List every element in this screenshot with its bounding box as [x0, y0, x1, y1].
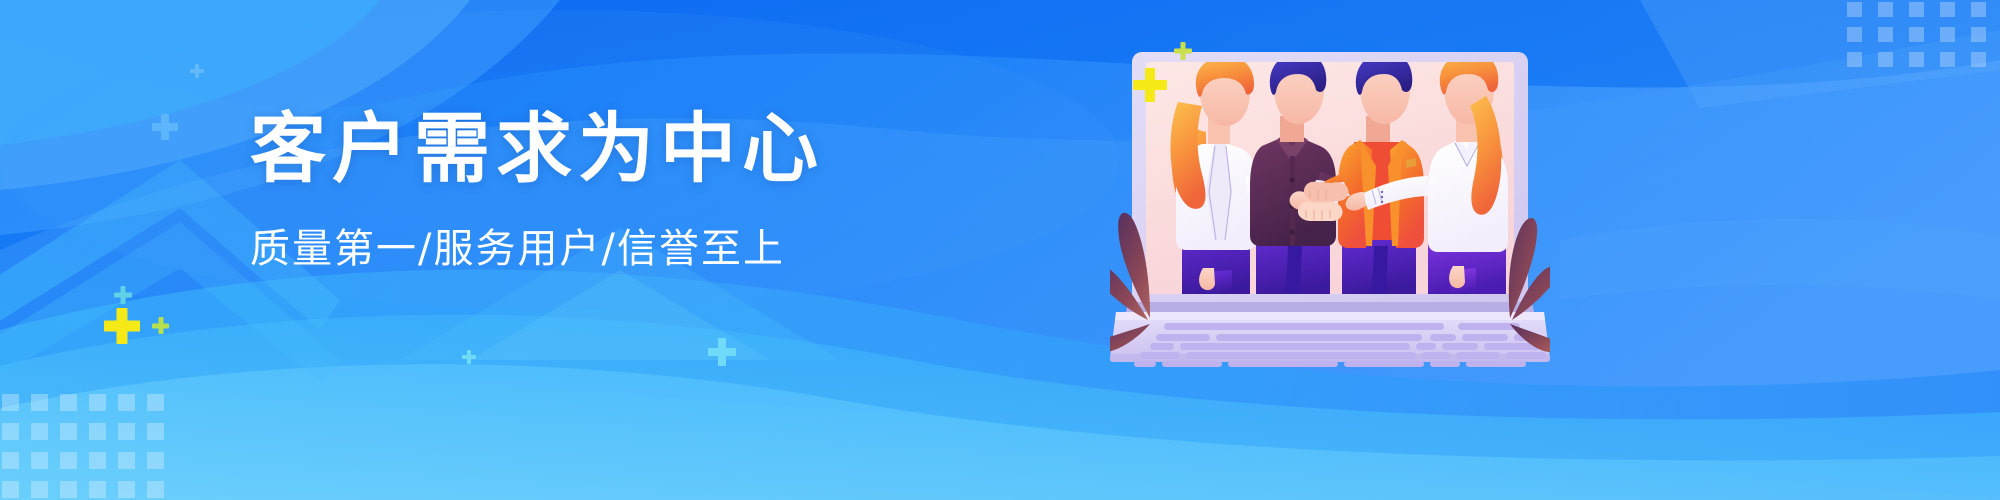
dot-grid-bottom-left	[2, 394, 164, 498]
plus-yellow-large-top-icon	[1133, 68, 1167, 102]
plus-yellow-small-top-icon	[1174, 42, 1192, 60]
banner-subhead: 质量第一/服务用户/信誉至上	[250, 216, 870, 274]
dot-grid-top-right	[1847, 2, 1986, 67]
plus-cyan-bottom-left-icon	[114, 286, 132, 304]
plus-cyan-upper-left-icon	[190, 64, 204, 78]
plus-cyan-bottom-mid-small-icon	[462, 350, 476, 364]
promo-banner: 客户需求为中心 质量第一/服务用户/信誉至上	[0, 0, 2000, 500]
plus-cyan-bottom-mid-icon	[708, 338, 736, 366]
laptop-hinge	[1126, 302, 1534, 312]
plus-cyan-mid-left-icon	[152, 114, 178, 140]
plus-yellow-small-bottom-icon	[152, 317, 169, 334]
laptop-team-illustration	[1110, 40, 1550, 370]
banner-headline: 客户需求为中心	[250, 104, 870, 194]
banner-text-block: 客户需求为中心 质量第一/服务用户/信誉至上	[250, 104, 870, 274]
plus-yellow-large-bottom-icon	[104, 308, 140, 344]
laptop-device	[1110, 52, 1550, 367]
